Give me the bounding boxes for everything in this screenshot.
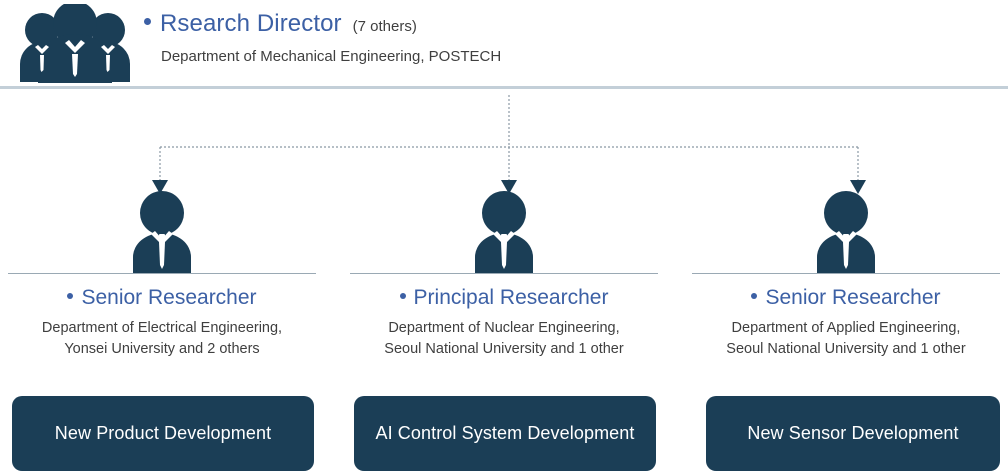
person-icon-wrap-3 [692, 180, 1000, 273]
project-box[interactable]: AI Control System Development [354, 396, 656, 471]
affiliation-text: Department of Electrical Engineering, Yo… [8, 318, 316, 360]
bullet-icon [751, 293, 757, 299]
columns-container: Senior Researcher Department of Electric… [0, 180, 1008, 474]
column-divider [350, 273, 658, 274]
header-text-block: Rsearch Director (7 others) Department o… [144, 10, 964, 65]
person-icon [129, 187, 195, 273]
bullet-icon [144, 18, 151, 25]
affiliation-line-2: Seoul National University and 1 other [350, 339, 658, 360]
role-label: Senior Researcher [81, 286, 256, 310]
bullet-icon [67, 293, 73, 299]
affiliation-line-1: Department of Nuclear Engineering, [350, 318, 658, 339]
org-column-2: Principal Researcher Department of Nucle… [350, 180, 658, 360]
org-column-3: Senior Researcher Department of Applied … [692, 180, 1000, 360]
role-row: Senior Researcher [8, 286, 316, 310]
person-icon [813, 187, 879, 273]
org-column-1: Senior Researcher Department of Electric… [8, 180, 316, 360]
header-affiliation: Department of Mechanical Engineering, PO… [161, 48, 964, 65]
group-of-people-icon [12, 4, 138, 84]
header-node: Rsearch Director (7 others) Department o… [0, 0, 1008, 88]
affiliation-text: Department of Applied Engineering, Seoul… [692, 318, 1000, 360]
header-others-count: (7 others) [353, 18, 417, 35]
affiliation-text: Department of Nuclear Engineering, Seoul… [350, 318, 658, 360]
bullet-icon [400, 293, 406, 299]
header-role-label: Rsearch Director [160, 10, 342, 38]
project-label: AI Control System Development [375, 423, 634, 444]
column-divider [692, 273, 1000, 274]
role-row: Senior Researcher [692, 286, 1000, 310]
person-icon-wrap-1 [8, 180, 316, 273]
person-icon-wrap-2 [350, 180, 658, 273]
affiliation-line-2: Yonsei University and 2 others [8, 339, 316, 360]
org-chart-diagram: Rsearch Director (7 others) Department o… [0, 0, 1008, 474]
affiliation-line-1: Department of Electrical Engineering, [8, 318, 316, 339]
role-label: Principal Researcher [414, 286, 609, 310]
project-box[interactable]: New Sensor Development [706, 396, 1000, 471]
affiliation-line-2: Seoul National University and 1 other [692, 339, 1000, 360]
affiliation-line-1: Department of Applied Engineering, [692, 318, 1000, 339]
project-label: New Sensor Development [747, 423, 958, 444]
project-box[interactable]: New Product Development [12, 396, 314, 471]
role-row: Principal Researcher [350, 286, 658, 310]
header-title-row: Rsearch Director (7 others) [144, 10, 964, 42]
column-divider [8, 273, 316, 274]
person-icon [471, 187, 537, 273]
project-label: New Product Development [55, 423, 271, 444]
role-label: Senior Researcher [765, 286, 940, 310]
